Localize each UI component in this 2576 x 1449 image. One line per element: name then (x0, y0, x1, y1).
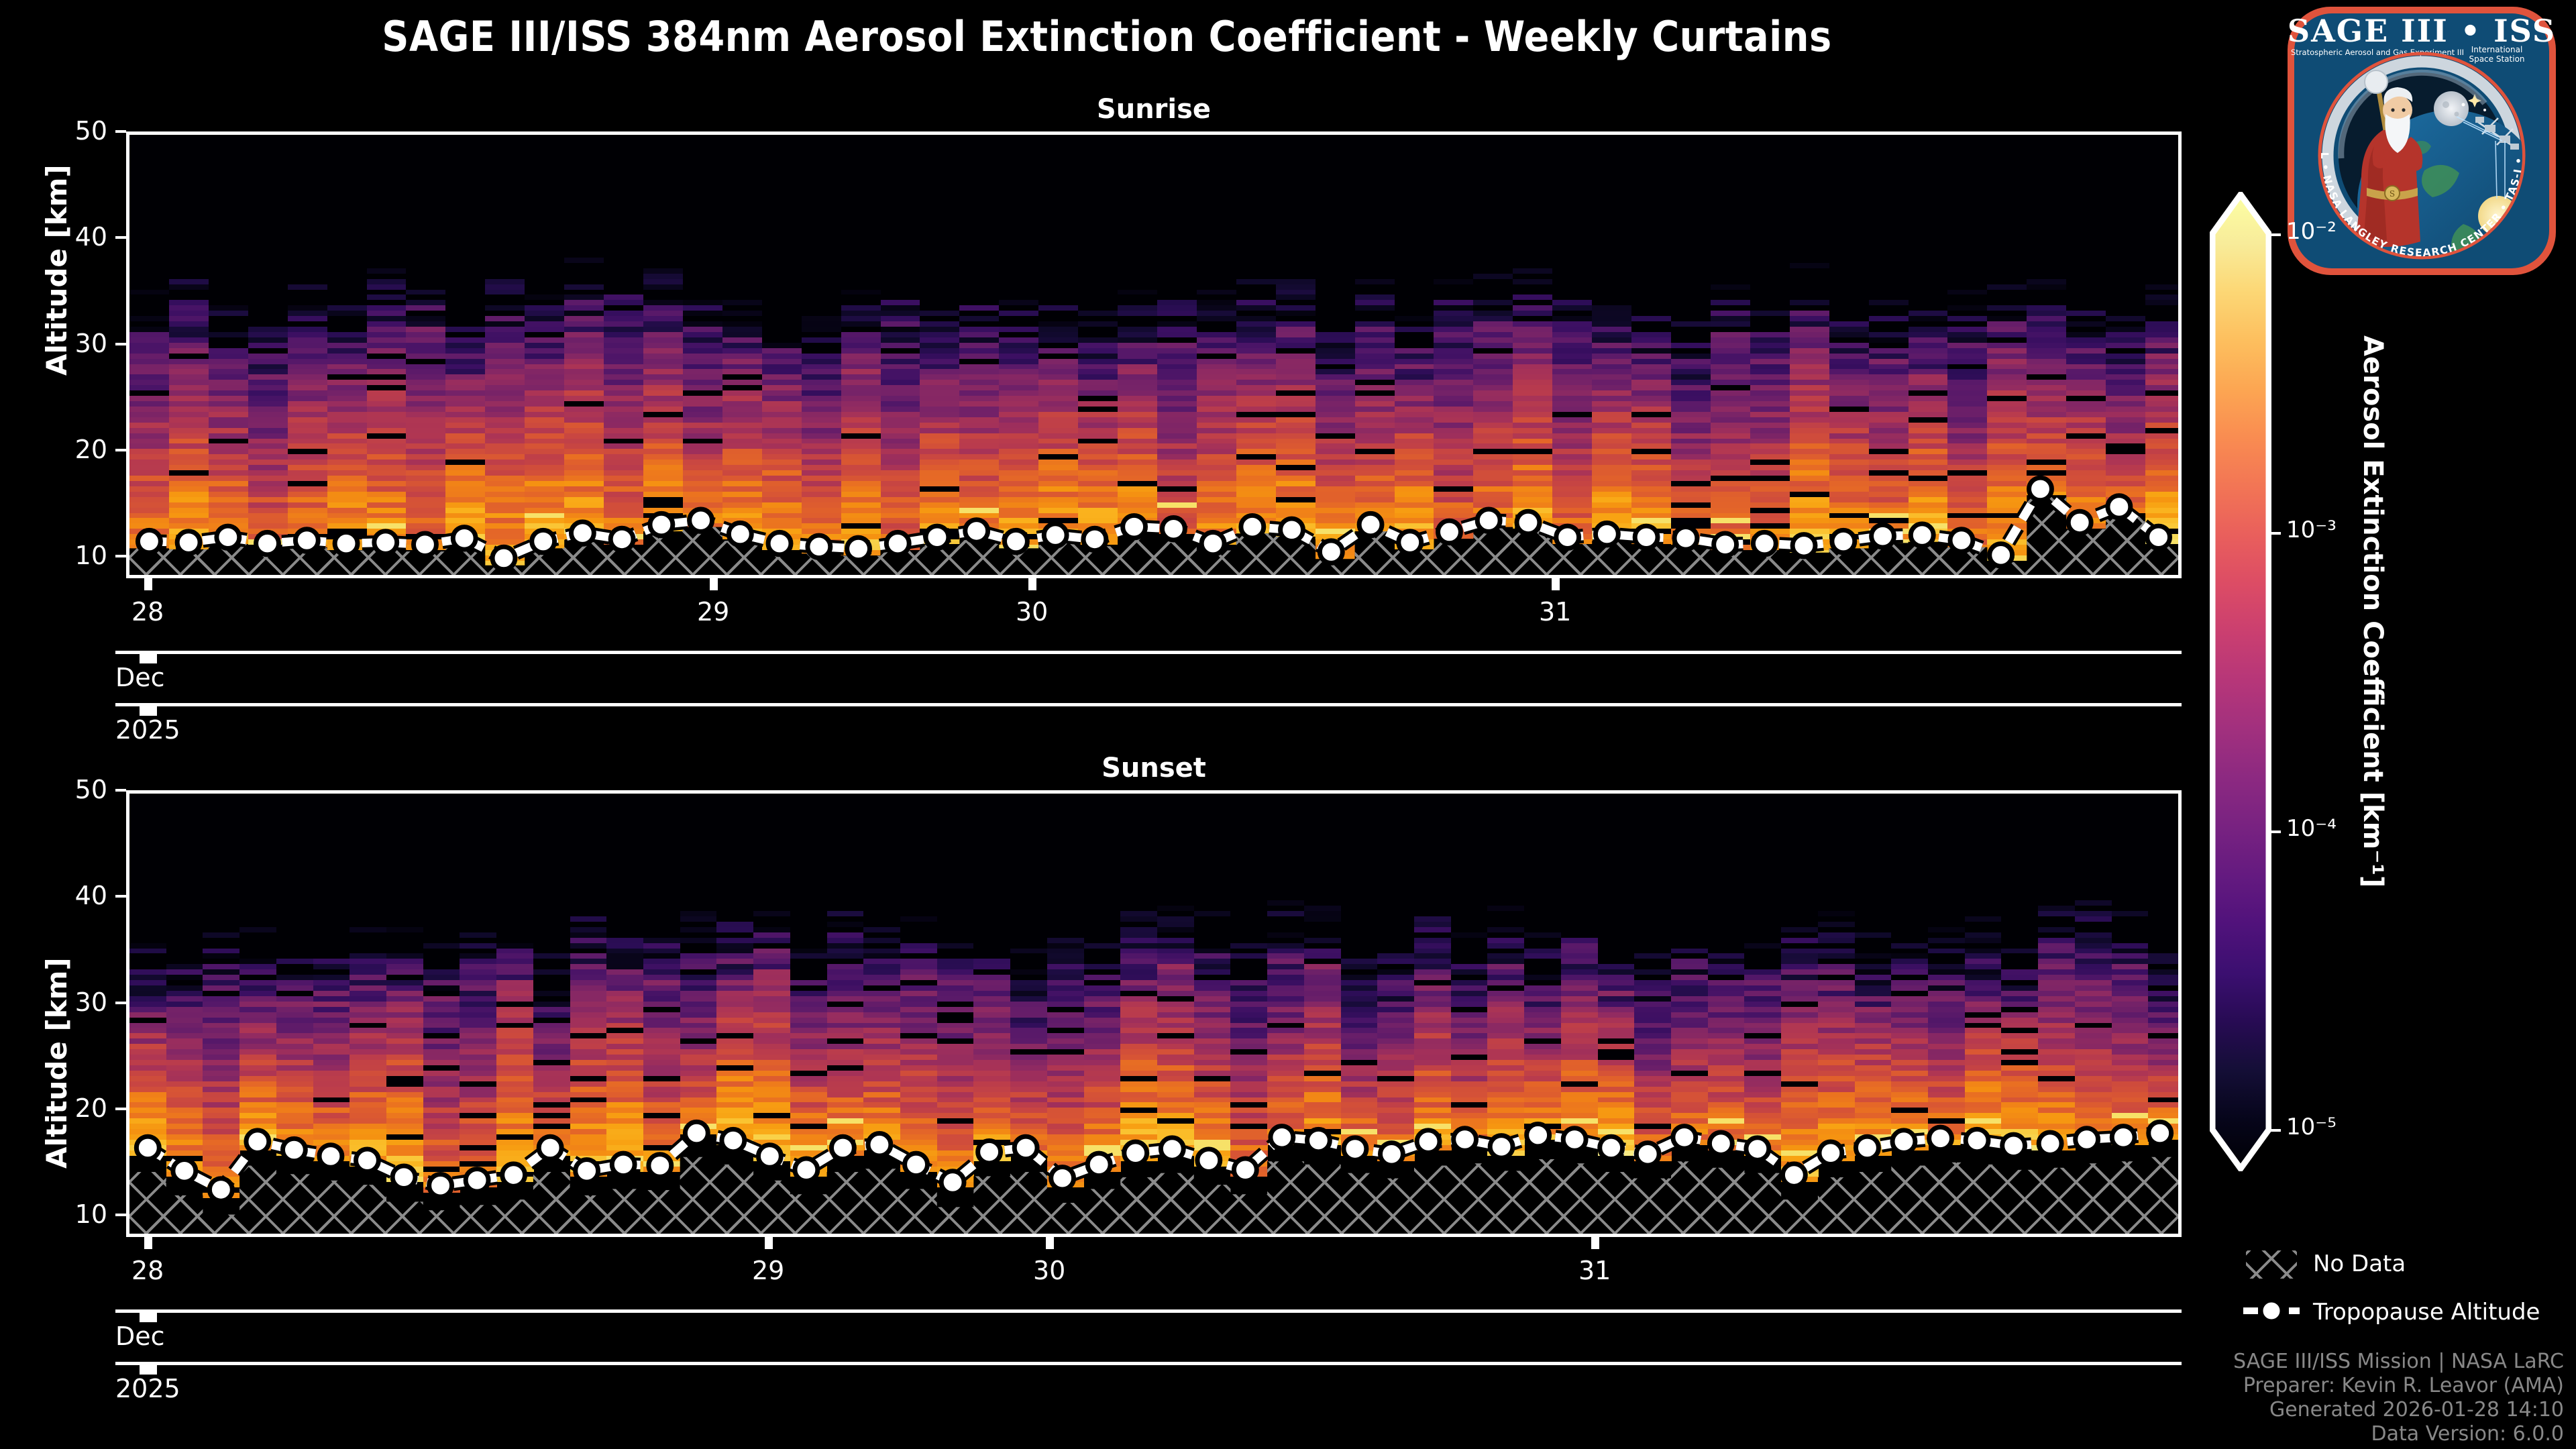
tropopause-marker (217, 526, 239, 548)
tropopause-marker (1714, 533, 1737, 555)
tropopause-marker (2068, 511, 2091, 533)
y-tick-mark-sunset-50 (115, 789, 126, 792)
tropopause-marker (1005, 530, 1028, 552)
y-tick-sunrise-40: 40 (40, 222, 107, 252)
month-axis-label-sunrise: Dec (115, 663, 165, 692)
y-tick-mark-sunset-20 (115, 1108, 126, 1110)
tropopause-marker (492, 547, 515, 569)
panel-title-sunset: Sunset (127, 753, 2180, 784)
y-tick-mark-sunrise-40 (115, 236, 126, 239)
tropopause-marker (729, 523, 751, 545)
tropopause-marker (2108, 496, 2131, 518)
month-axis-line-sunrise (115, 651, 2182, 654)
tropopause-marker (1044, 524, 1067, 546)
x-tick-sunrise-29: 29 (697, 597, 729, 627)
tropopause-marker (1911, 524, 1933, 546)
tropopause-marker (2147, 526, 2170, 548)
tropopause-marker (1123, 515, 1146, 537)
month-axis-tick-sunrise (140, 654, 157, 663)
y-tick-mark-sunset-40 (115, 895, 126, 898)
page-title: SAGE III/ISS 384nm Aerosol Extinction Co… (0, 12, 2214, 61)
y-tick-mark-sunrise-50 (115, 130, 126, 133)
tropopause-marker (335, 532, 358, 554)
tropopause-marker (1792, 535, 1815, 557)
y-tick-sunrise-10: 10 (40, 541, 107, 570)
y-tick-sunset-20: 20 (40, 1093, 107, 1123)
tropopause-line-sunrise (129, 135, 2178, 575)
tropopause-marker (965, 520, 988, 542)
tropopause-marker (1201, 532, 1224, 554)
tropopause-marker (256, 532, 279, 554)
y-tick-sunrise-50: 50 (40, 116, 107, 146)
tropopause-marker (532, 530, 555, 552)
heatmap-panel-sunrise[interactable] (126, 131, 2182, 578)
tropopause-marker (295, 529, 318, 551)
tropopause-marker (1438, 521, 1461, 543)
tropopause-marker (1595, 523, 1618, 545)
tropopause-marker (1281, 519, 1303, 541)
y-tick-mark-sunset-10 (115, 1214, 126, 1216)
tropopause-marker (1477, 509, 1500, 531)
year-axis-line-sunrise (115, 703, 2182, 706)
year-axis-tick-sunrise (140, 706, 157, 716)
y-tick-sunset-30: 30 (40, 987, 107, 1017)
tropopause-marker (1832, 530, 1855, 552)
x-tick-mark-sunrise-29 (710, 578, 718, 590)
tropopause-marker (847, 537, 870, 559)
x-tick-sunrise-28: 28 (131, 597, 164, 627)
tropopause-marker (2029, 478, 2052, 500)
tropopause-marker (177, 531, 200, 553)
panel-title-sunrise: Sunrise (127, 94, 2180, 125)
y-tick-sunset-50: 50 (40, 775, 107, 804)
x-tick-sunrise-31: 31 (1539, 597, 1571, 627)
tropopause-marker (1399, 531, 1421, 553)
year-axis-label-sunrise: 2025 (115, 715, 180, 745)
y-tick-sunrise-30: 30 (40, 329, 107, 358)
y-tick-sunset-10: 10 (40, 1199, 107, 1229)
tropopause-marker (650, 513, 673, 535)
tropopause-marker (1753, 532, 1776, 554)
x-tick-sunrise-30: 30 (1016, 597, 1048, 627)
tropopause-marker (1517, 511, 1540, 533)
y-tick-mark-sunrise-20 (115, 449, 126, 451)
tropopause-marker (1872, 525, 1894, 547)
tropopause-marker (886, 532, 909, 554)
tropopause-marker (1674, 527, 1697, 549)
tropopause-marker (571, 522, 594, 544)
x-tick-mark-sunrise-30 (1028, 578, 1036, 590)
tropopause-marker (808, 535, 830, 557)
tropopause-marker (138, 530, 160, 552)
tropopause-marker (610, 528, 633, 550)
tropopause-marker (414, 533, 437, 555)
tropopause-marker (1359, 513, 1382, 535)
x-tick-mark-sunrise-28 (144, 578, 152, 590)
tropopause-marker (1320, 541, 1342, 563)
tropopause-marker (1241, 515, 1264, 537)
y-tick-sunrise-20: 20 (40, 435, 107, 464)
tropopause-marker (926, 526, 949, 548)
tropopause-marker (453, 527, 476, 549)
tropopause-marker (374, 531, 397, 553)
y-tick-mark-sunset-30 (115, 1002, 126, 1004)
y-tick-mark-sunrise-30 (115, 343, 126, 345)
tropopause-marker (1162, 518, 1185, 540)
x-tick-mark-sunrise-31 (1552, 578, 1560, 590)
tropopause-marker (1635, 526, 1658, 548)
tropopause-marker (768, 532, 791, 554)
tropopause-marker (1083, 528, 1106, 550)
y-tick-sunset-40: 40 (40, 881, 107, 910)
tropopause-marker (690, 509, 712, 531)
y-tick-mark-sunrise-10 (115, 555, 126, 557)
tropopause-marker (1556, 526, 1579, 548)
heatmap-panel-sunset[interactable] (126, 790, 2182, 1237)
tropopause-marker (1950, 529, 1973, 551)
tropopause-marker (1990, 544, 2012, 566)
